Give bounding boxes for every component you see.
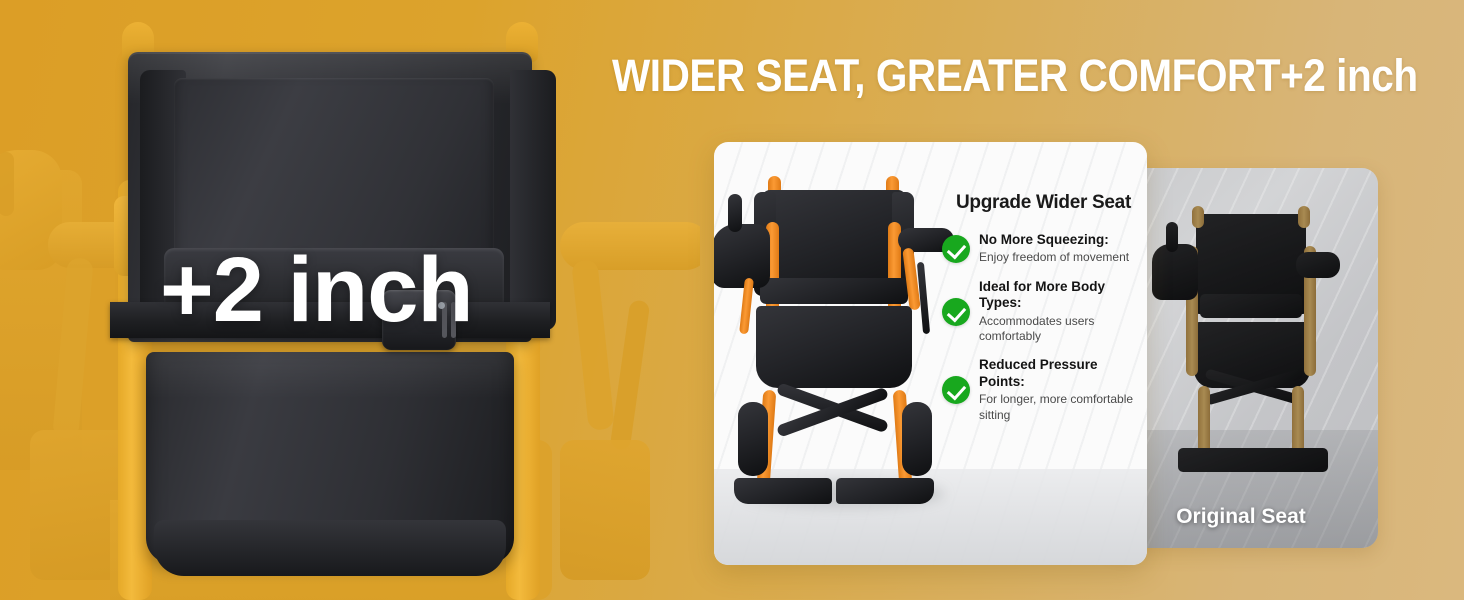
feature-text: Ideal for More Body Types: Accommodates … <box>979 279 1142 345</box>
feature-item: Reduced Pressure Points: For longer, mor… <box>942 357 1142 423</box>
chair-joystick-stick <box>728 194 742 232</box>
upgraded-seat-card: Upgrade Wider Seat No More Squeezing: En… <box>714 142 1147 565</box>
banner-headline: WIDER SEAT, GREATER COMFORT+2 inch <box>612 50 1377 102</box>
mini-footplate <box>1178 448 1328 472</box>
hero-overlay-label: +2 inch <box>160 244 520 336</box>
chair-seat-cushion <box>756 306 912 388</box>
check-circle-icon <box>942 235 970 263</box>
chair-wheel-left <box>738 402 768 476</box>
chair-footplate-left <box>734 478 832 504</box>
mini-joystick-stick <box>1166 222 1178 252</box>
check-circle-icon <box>942 376 970 404</box>
feature-text: Reduced Pressure Points: For longer, mor… <box>979 357 1142 423</box>
seat-front-edge <box>154 520 506 576</box>
chair-footplate-right <box>836 478 934 504</box>
hero-product-image: +2 inch <box>0 0 700 600</box>
feature-heading: Reduced Pressure Points: <box>979 357 1142 390</box>
ghost-footrest-right <box>560 440 650 580</box>
chair-lumbar <box>760 278 908 304</box>
feature-heading: No More Squeezing: <box>979 232 1129 248</box>
original-wheelchair-image <box>1156 186 1346 486</box>
feature-text: No More Squeezing: Enjoy freedom of move… <box>979 232 1129 266</box>
feature-description: Enjoy freedom of movement <box>979 250 1129 265</box>
feature-list-title: Upgrade Wider Seat <box>956 192 1142 214</box>
ghost-joystick-stick <box>0 152 14 216</box>
feature-description: Accommodates users comfortably <box>979 314 1142 345</box>
feature-description: For longer, more comfortable sitting <box>979 392 1142 423</box>
upgraded-wheelchair-image <box>720 166 950 526</box>
ghost-armrest-right-post <box>571 259 615 431</box>
feature-list: Upgrade Wider Seat No More Squeezing: En… <box>942 192 1142 436</box>
mini-post-right <box>1298 206 1310 228</box>
mini-lumbar <box>1200 294 1302 318</box>
mini-leg-left <box>1198 386 1210 456</box>
check-circle-icon <box>942 298 970 326</box>
mini-leg-right <box>1292 386 1304 456</box>
banner-stage: +2 inch WIDER SEAT, GREATER COMFORT+2 in… <box>0 0 1464 600</box>
chair-wheel-right <box>902 402 932 476</box>
feature-heading: Ideal for More Body Types: <box>979 279 1142 312</box>
mini-joystick <box>1152 244 1198 300</box>
mini-armrest-right <box>1296 252 1340 278</box>
mini-post-left <box>1192 206 1204 228</box>
feature-item: No More Squeezing: Enjoy freedom of move… <box>942 232 1142 266</box>
ghost-armrest-right-brace <box>610 299 651 450</box>
feature-item: Ideal for More Body Types: Accommodates … <box>942 279 1142 345</box>
chair-joystick-housing <box>714 224 770 288</box>
